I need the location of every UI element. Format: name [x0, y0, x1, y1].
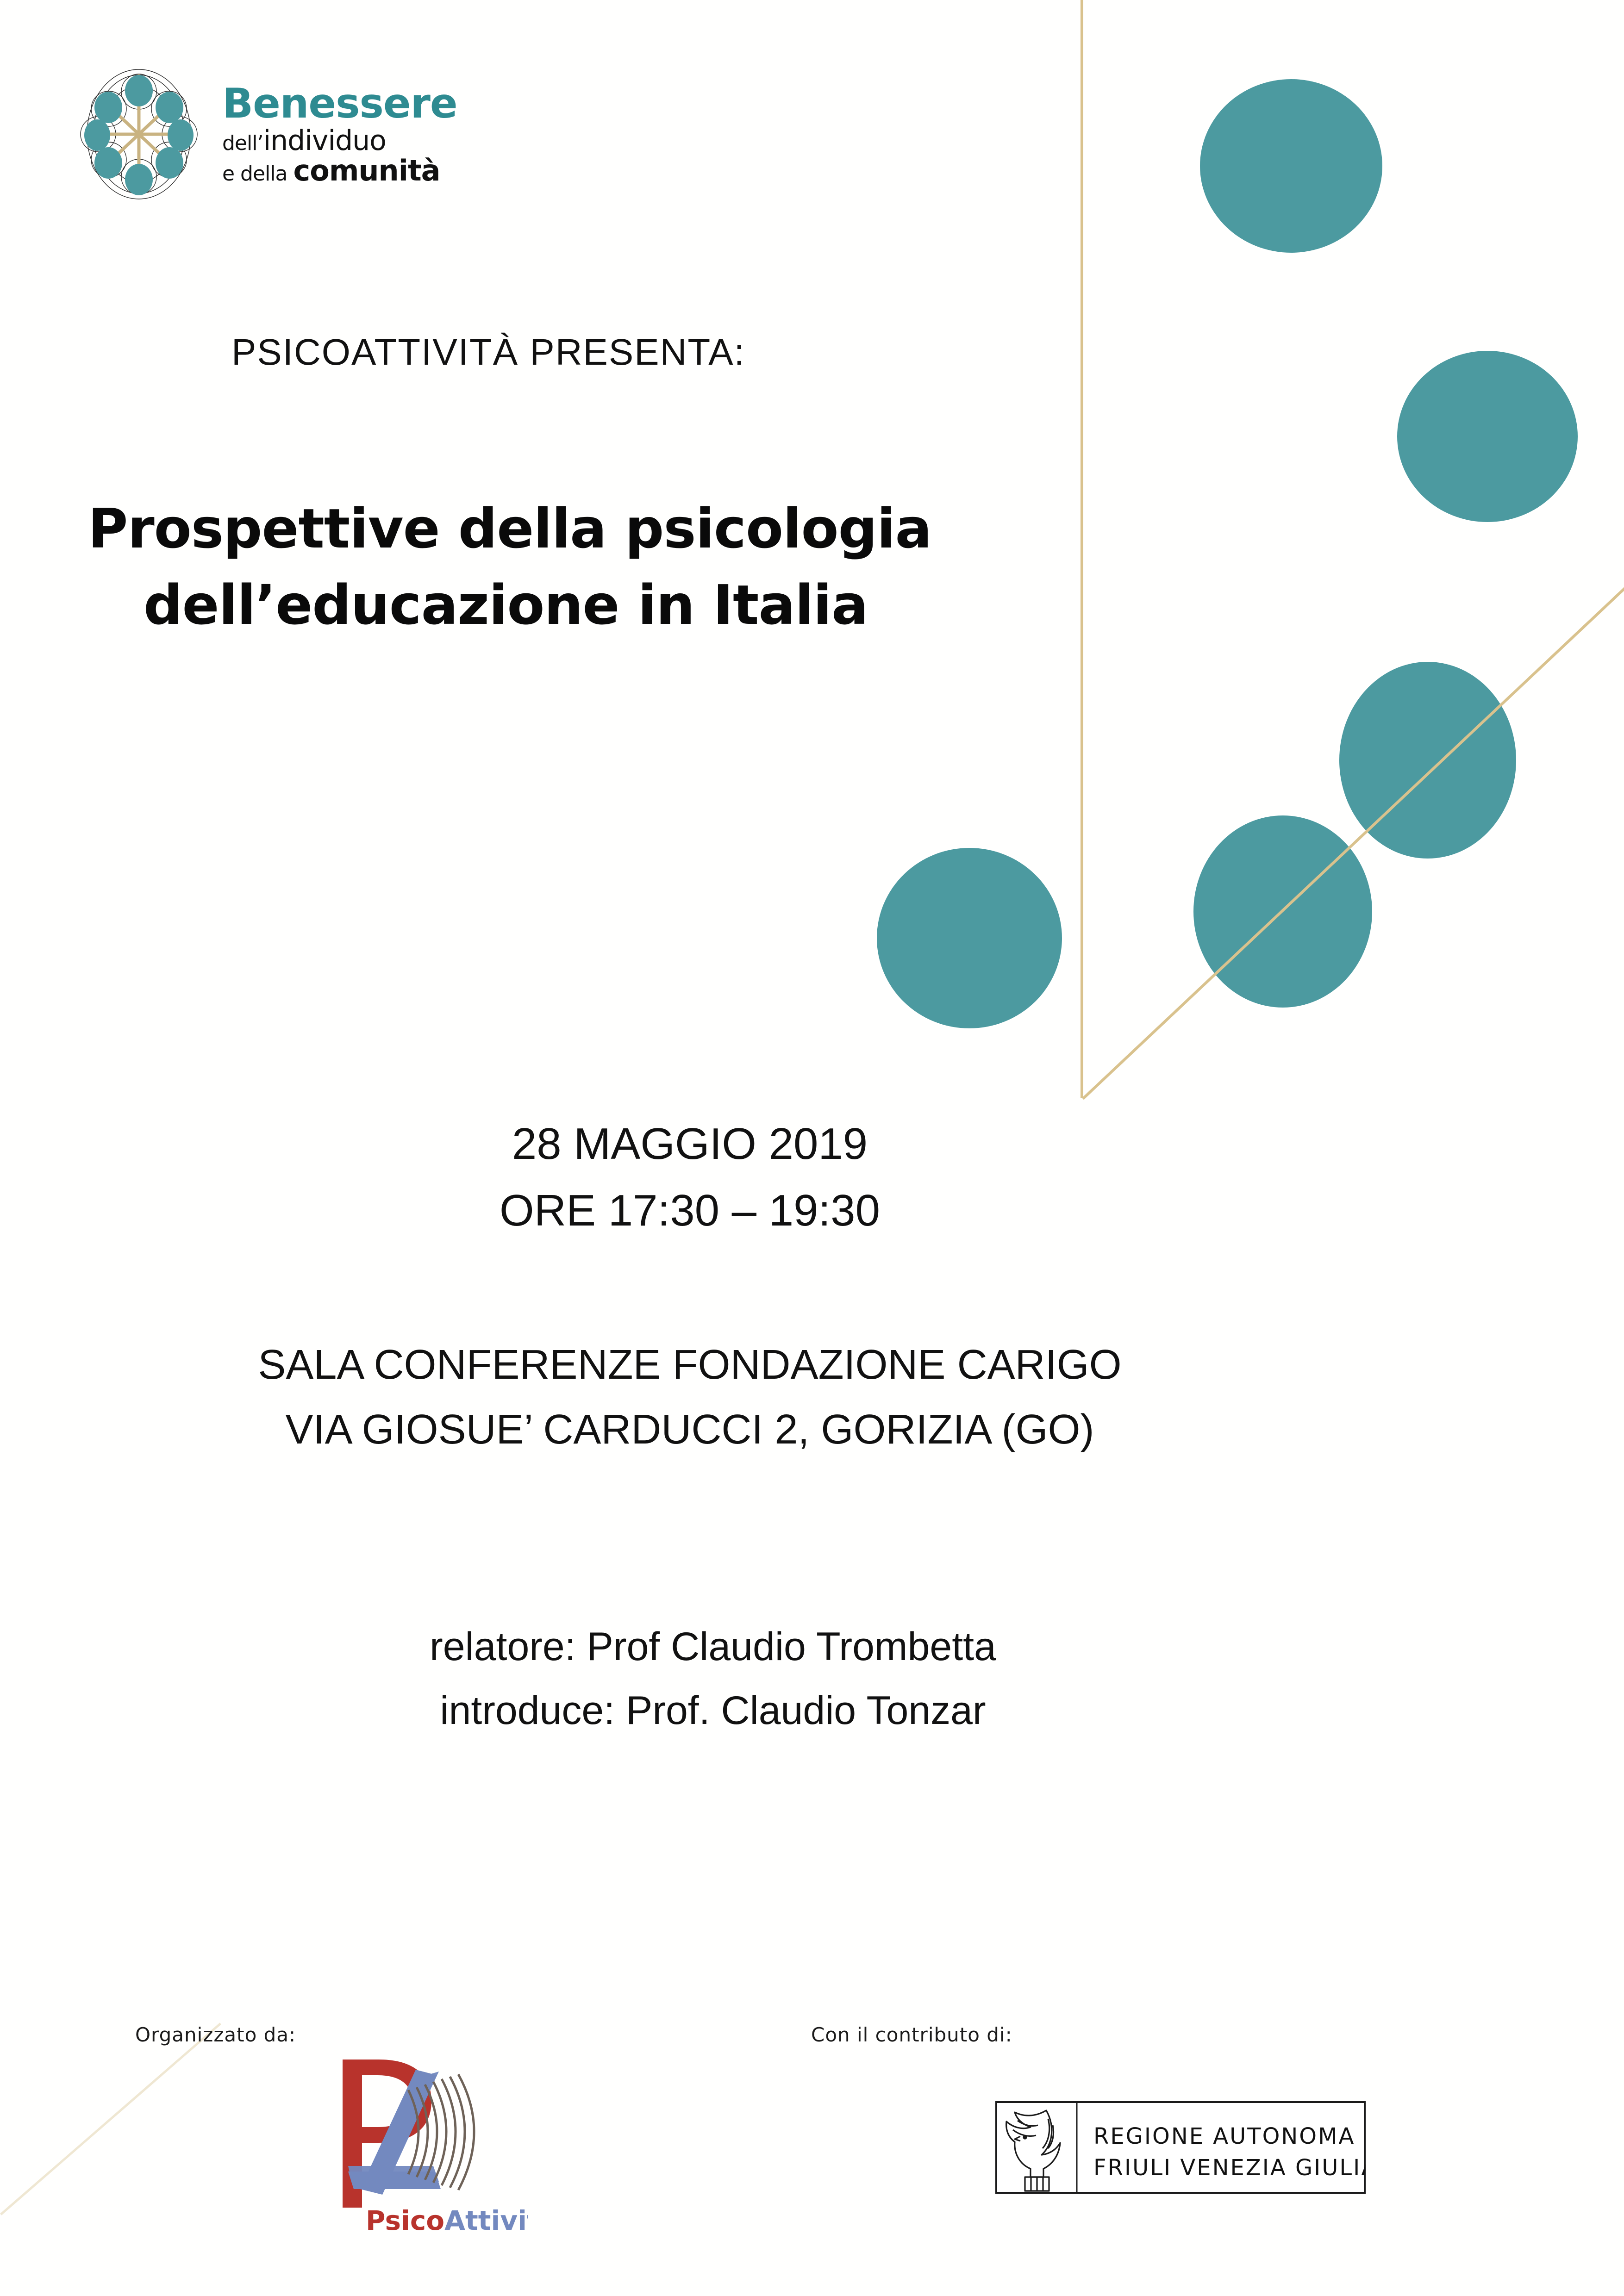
organized-by-label: Organizzato da: — [135, 2023, 296, 2046]
title-line-1: Prospettive della psicologia — [88, 497, 931, 560]
benessere-wheel-icon — [69, 65, 208, 204]
event-datetime: 28 MAGGIO 2019 ORE 17:30 – 19:30 — [0, 1111, 1380, 1244]
contribution-label: Con il contributo di: — [811, 2023, 1012, 2046]
event-date: 28 MAGGIO 2019 — [0, 1111, 1380, 1177]
event-location: SALA CONFERENZE FONDAZIONE CARIGO VIA GI… — [0, 1333, 1380, 1462]
page-title: Prospettive della psicologia dell’educaz… — [88, 491, 1014, 643]
svg-text:FRIULI VENEZIA GIULIA: FRIULI VENEZIA GIULIA — [1093, 2155, 1366, 2181]
circle-upper-right — [1397, 351, 1578, 522]
brand-line-3-prefix: e della — [222, 162, 293, 186]
poster-canvas: Benessere dell’individuo e della comunit… — [0, 0, 1624, 2296]
circle-mid-center — [1193, 815, 1372, 1008]
corner-diagonal-line — [0, 2022, 221, 2215]
venue-name: SALA CONFERENZE FONDAZIONE CARIGO — [0, 1333, 1380, 1398]
brand-line-2-main: individuo — [263, 124, 386, 157]
friuli-venezia-giulia-logo: REGIONE AUTONOMA FRIULI VENEZIA GIULIA — [995, 2101, 1366, 2194]
vertical-guide-line — [1081, 0, 1083, 1098]
venue-address: VIA GIOSUE’ CARDUCCI 2, GORIZIA (GO) — [0, 1398, 1380, 1462]
brand-line-3: e della comunità — [222, 156, 457, 185]
title-line-2: dell’educazione in Italia — [88, 567, 1014, 643]
svg-text:PsicoAttività: PsicoAttività — [366, 2205, 528, 2235]
presenter-line: PSICOATTIVITÀ PRESENTA: — [231, 331, 745, 373]
diagonal-guide-line — [1082, 585, 1624, 1100]
brand-line-1: Benessere — [222, 83, 457, 124]
event-time: ORE 17:30 – 19:30 — [0, 1177, 1380, 1244]
brand-line-3-main: comunità — [293, 154, 440, 187]
brand-wordmark: Benessere dell’individuo e della comunit… — [222, 83, 457, 185]
brand-header: Benessere dell’individuo e della comunit… — [69, 60, 560, 208]
speaker-relatore: relatore: Prof Claudio Trombetta — [0, 1615, 1426, 1679]
circle-lower-left — [877, 848, 1062, 1028]
event-speakers: relatore: Prof Claudio Trombetta introdu… — [0, 1615, 1426, 1742]
brand-line-2-prefix: dell’ — [222, 131, 263, 155]
circle-mid-right — [1339, 662, 1516, 859]
circle-top-right — [1200, 79, 1382, 253]
psicoattivita-logo-icon: PsicoAttività — [324, 2050, 528, 2235]
svg-text:REGIONE AUTONOMA: REGIONE AUTONOMA — [1093, 2123, 1355, 2149]
speaker-introduce: introduce: Prof. Claudio Tonzar — [0, 1679, 1426, 1743]
brand-line-2: dell’individuo — [222, 127, 457, 155]
